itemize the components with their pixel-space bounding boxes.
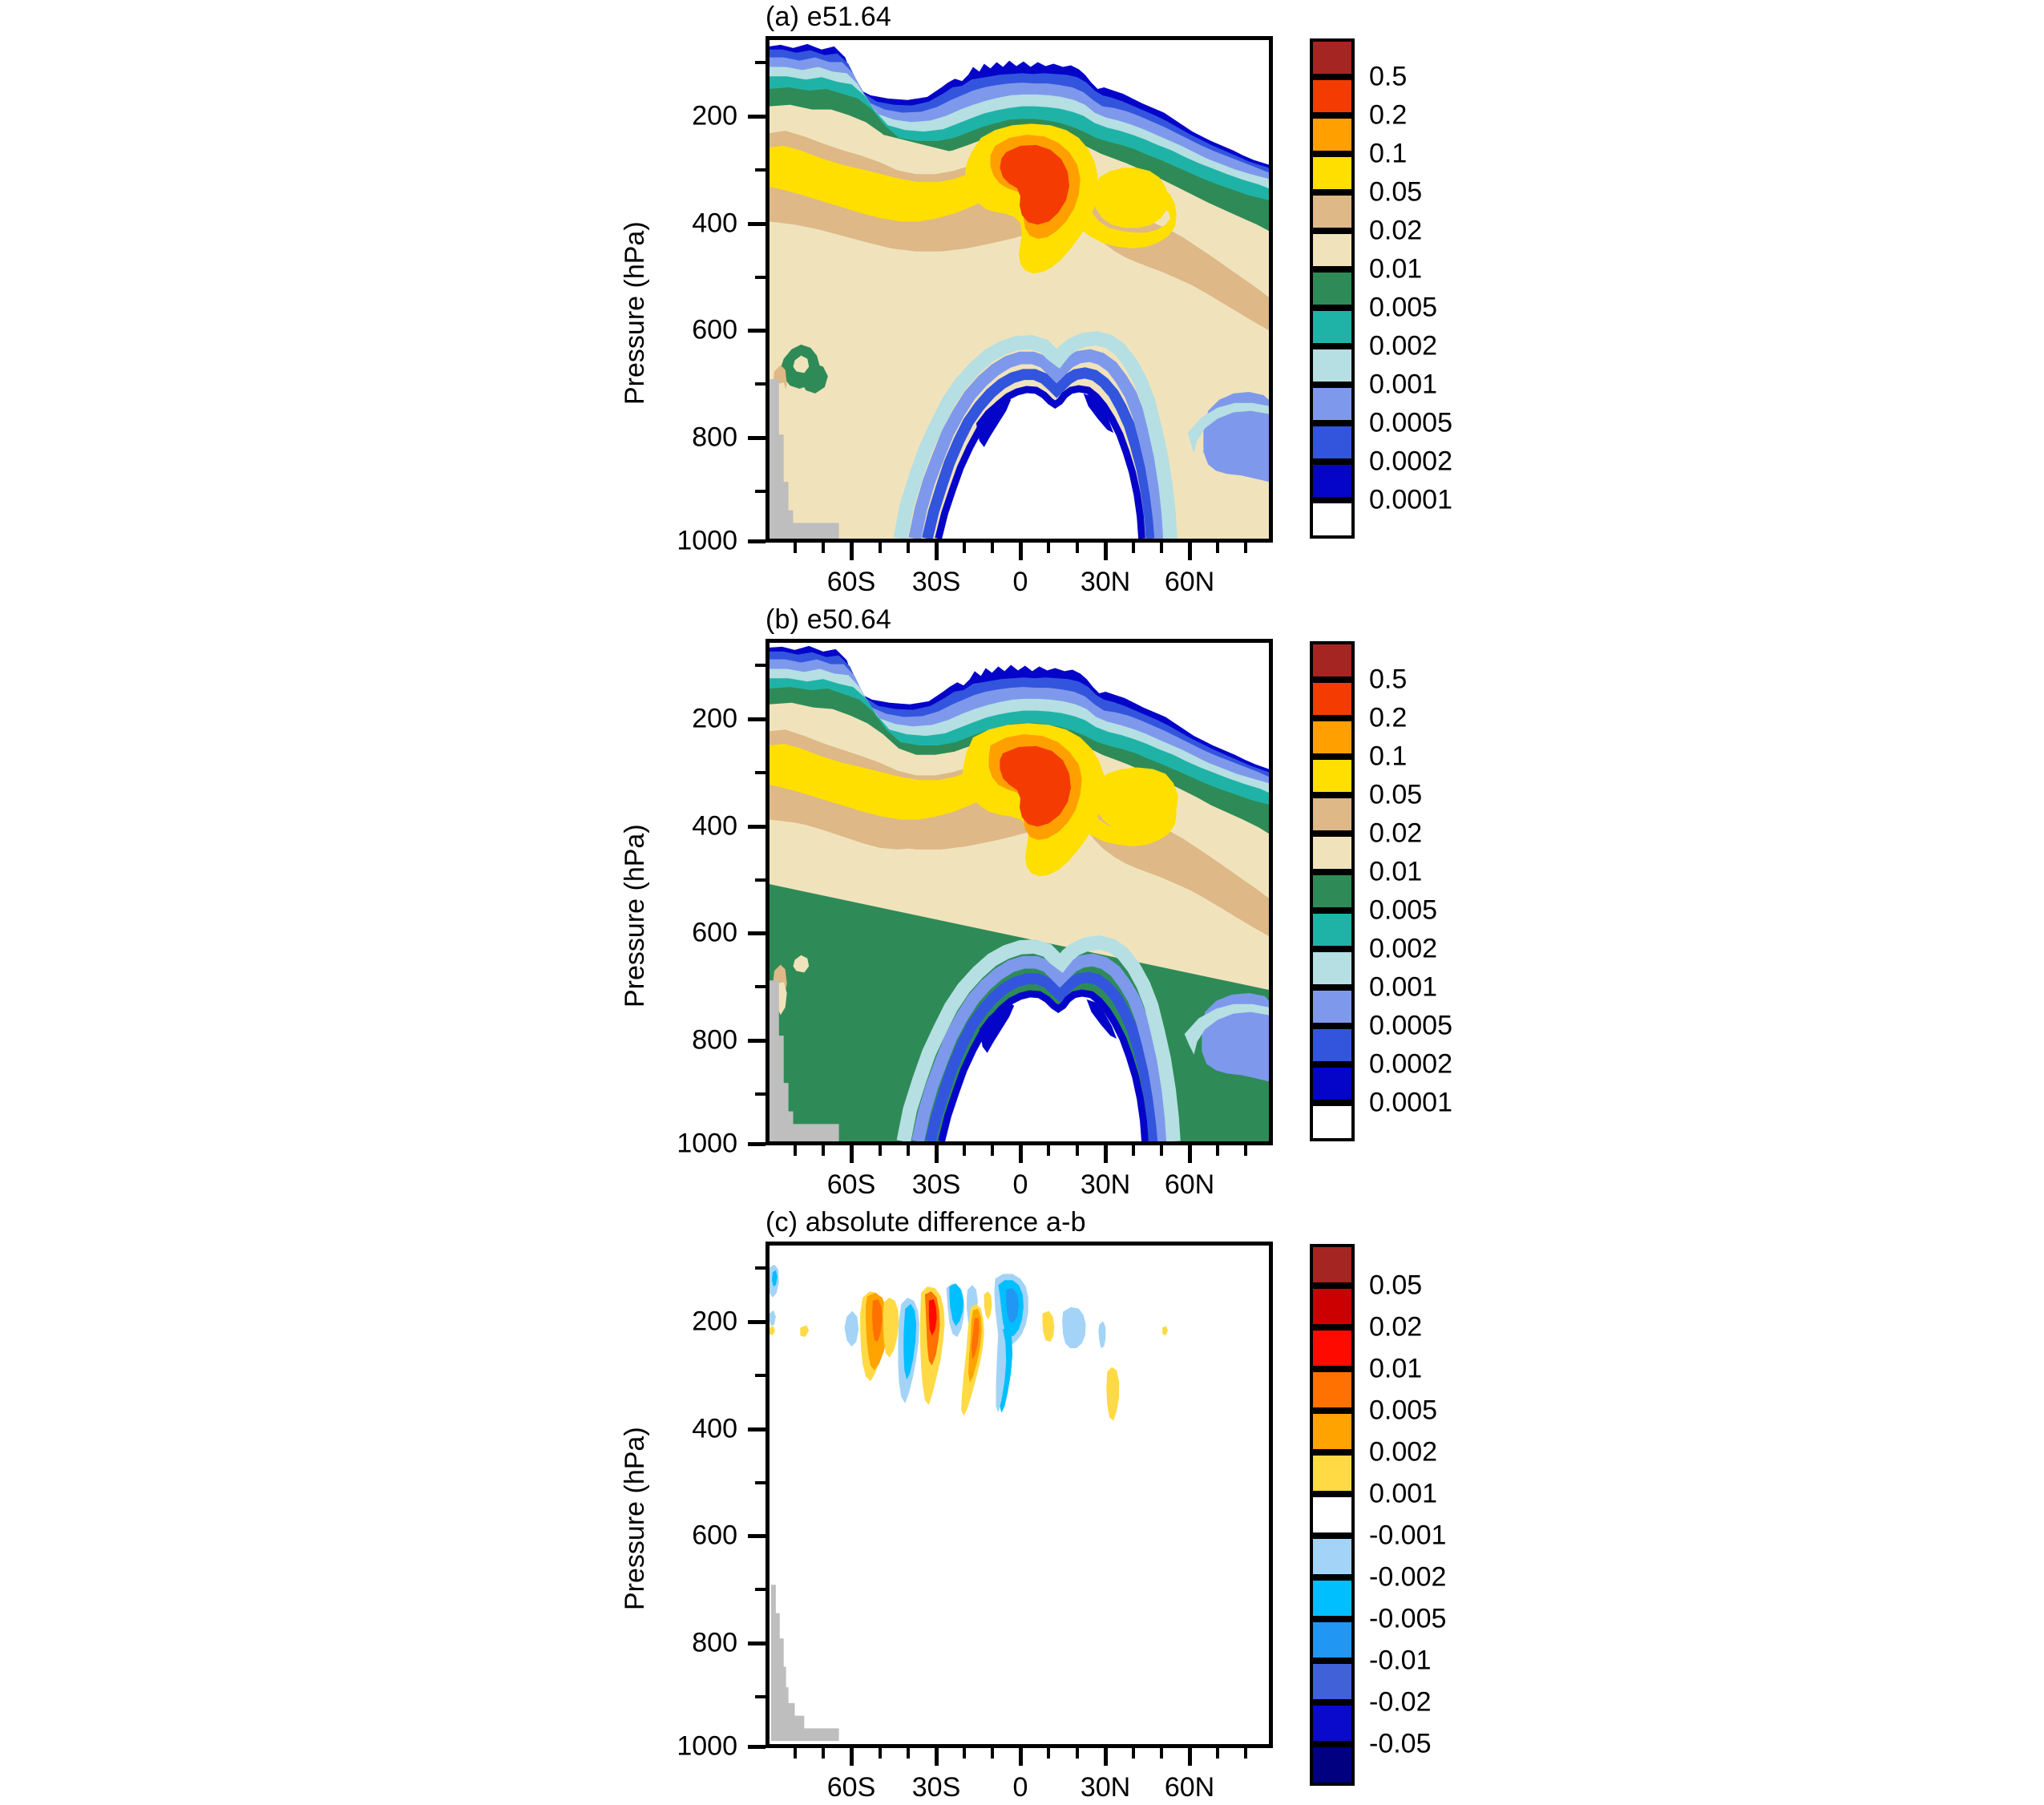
ytick-label-1000: 1000 xyxy=(637,526,737,557)
cbar-swatch-12 xyxy=(1310,1744,1355,1786)
cbar-label-9: 0.0005 xyxy=(1369,408,1452,439)
xtick-30S xyxy=(935,1748,939,1766)
xtick-label-0: 0 xyxy=(1013,1772,1028,1803)
panel-c-plot xyxy=(765,1242,1273,1748)
cbar-label-7: -0.002 xyxy=(1369,1562,1446,1593)
cbar-swatch-4 xyxy=(1310,795,1355,834)
xtick-minor xyxy=(907,1145,910,1156)
cbar-label-3: 0.05 xyxy=(1369,177,1422,208)
xtick-label-30N: 30N xyxy=(1081,1169,1130,1201)
xtick-60S xyxy=(850,1145,854,1163)
ytick-200 xyxy=(748,717,765,721)
cbar-swatch-3 xyxy=(1310,154,1355,192)
cbar-swatch-3 xyxy=(1310,1369,1355,1411)
panel-a-title: (a) e51.64 xyxy=(765,2,891,33)
xtick-minor xyxy=(1047,1145,1050,1156)
cbar-swatch-8 xyxy=(1310,1577,1355,1619)
xtick-minor xyxy=(1047,1748,1050,1759)
cbar-swatch-6 xyxy=(1310,872,1355,911)
cbar-swatch-9 xyxy=(1310,385,1355,423)
cbar-swatch-5 xyxy=(1310,231,1355,269)
xtick-minor xyxy=(963,1145,966,1156)
xtick-minor xyxy=(1216,1748,1219,1759)
ytick-minor xyxy=(755,985,765,988)
cbar-swatch-6 xyxy=(1310,269,1355,308)
xtick-minor xyxy=(822,543,825,553)
ytick-label-600: 600 xyxy=(649,1520,737,1552)
cbar-swatch-10 xyxy=(1310,1661,1355,1702)
xtick-30N xyxy=(1104,1748,1108,1766)
cbar-swatch-9 xyxy=(1310,987,1355,1026)
xtick-minor xyxy=(1160,1145,1163,1156)
y-axis-title: Pressure (hPa) xyxy=(620,824,651,1007)
ytick-minor xyxy=(755,1481,765,1484)
y-axis-title: Pressure (hPa) xyxy=(620,1427,651,1610)
cbar-swatch-6 xyxy=(1310,1494,1355,1536)
cbar-label-6: -0.001 xyxy=(1369,1520,1446,1552)
ytick-label-800: 800 xyxy=(649,422,737,454)
cbar-label-8: 0.001 xyxy=(1369,369,1437,401)
xtick-minor xyxy=(907,543,910,553)
xtick-minor xyxy=(1160,543,1163,553)
cbar-label-11: -0.05 xyxy=(1369,1729,1432,1760)
ytick-600 xyxy=(748,931,765,935)
xtick-label-30S: 30S xyxy=(912,1772,961,1803)
cbar-swatch-12 xyxy=(1310,500,1355,539)
cbar-swatch-11 xyxy=(1310,1702,1355,1744)
ytick-1000 xyxy=(748,539,765,543)
ytick-400 xyxy=(748,222,765,226)
xtick-minor xyxy=(1047,543,1050,553)
ytick-minor xyxy=(755,168,765,172)
ytick-minor xyxy=(755,1092,765,1096)
ytick-800 xyxy=(748,436,765,440)
cbar-swatch-4 xyxy=(1310,1411,1355,1452)
xtick-minor xyxy=(907,1748,910,1759)
cbar-swatch-12 xyxy=(1310,1103,1355,1141)
cbar-label-0: 0.5 xyxy=(1369,664,1407,696)
cbar-label-6: 0.005 xyxy=(1369,293,1437,324)
ytick-label-1000: 1000 xyxy=(637,1129,737,1160)
xtick-label-30S: 30S xyxy=(912,567,961,598)
xtick-minor xyxy=(1244,1145,1247,1156)
cbar-label-6: 0.005 xyxy=(1369,895,1437,927)
xtick-minor xyxy=(963,543,966,553)
xtick-minor xyxy=(879,1748,882,1759)
panel-b-title: (b) e50.64 xyxy=(765,604,891,636)
cbar-label-7: 0.002 xyxy=(1369,331,1437,362)
panel-c-contour-fill xyxy=(770,1246,1269,1744)
xtick-minor xyxy=(1132,543,1135,553)
xtick-30N xyxy=(1104,1145,1108,1163)
cbar-label-11: 0.0001 xyxy=(1369,1088,1452,1119)
ytick-800 xyxy=(748,1039,765,1043)
cbar-swatch-10 xyxy=(1310,1026,1355,1064)
xtick-label-60S: 60S xyxy=(827,1772,876,1803)
xtick-30S xyxy=(935,543,939,560)
ytick-label-800: 800 xyxy=(649,1628,737,1659)
xtick-minor xyxy=(879,1145,882,1156)
panel-a-plot xyxy=(765,36,1273,543)
xtick-minor xyxy=(1076,1145,1079,1156)
xtick-minor xyxy=(991,1748,994,1759)
panel-a-colorbar: 0.5 0.2 0.1 0.05 0.02 0.01 0.005 0.002 0… xyxy=(1310,38,1355,539)
cbar-label-1: 0.2 xyxy=(1369,100,1407,131)
cbar-swatch-9 xyxy=(1310,1619,1355,1661)
ytick-minor xyxy=(755,1266,765,1270)
ytick-label-400: 400 xyxy=(649,811,737,842)
xtick-label-60S: 60S xyxy=(827,567,876,598)
cbar-swatch-3 xyxy=(1310,757,1355,795)
xtick-label-60S: 60S xyxy=(827,1169,876,1201)
xtick-30S xyxy=(935,1145,939,1163)
ytick-label-400: 400 xyxy=(649,1414,737,1445)
ytick-label-1000: 1000 xyxy=(637,1731,737,1763)
ytick-600 xyxy=(748,1534,765,1538)
cbar-label-5: 0.01 xyxy=(1369,254,1422,285)
cbar-swatch-7 xyxy=(1310,1536,1355,1577)
ytick-minor xyxy=(755,878,765,882)
xtick-60S xyxy=(850,543,854,560)
xtick-minor xyxy=(794,1145,797,1156)
panel-a-contour-fill xyxy=(770,40,1269,539)
ytick-800 xyxy=(748,1641,765,1645)
cbar-label-2: 0.01 xyxy=(1369,1354,1422,1385)
xtick-minor xyxy=(1132,1145,1135,1156)
ytick-minor xyxy=(755,771,765,774)
ytick-minor xyxy=(755,1695,765,1698)
xtick-60N xyxy=(1188,1145,1192,1163)
xtick-minor xyxy=(822,1748,825,1759)
cbar-label-11: 0.0001 xyxy=(1369,485,1452,516)
cbar-swatch-0 xyxy=(1310,641,1355,680)
ytick-200 xyxy=(748,1320,765,1324)
xtick-label-0: 0 xyxy=(1013,567,1028,598)
cbar-label-5: 0.001 xyxy=(1369,1479,1437,1510)
panel-c: (c) absolute difference a-b xyxy=(0,1205,2044,1805)
panel-c-colorbar: 0.05 0.02 0.01 0.005 0.002 0.001 -0.001 … xyxy=(1310,1244,1355,1786)
ytick-400 xyxy=(748,825,765,829)
ytick-minor xyxy=(755,664,765,667)
cbar-swatch-7 xyxy=(1310,308,1355,346)
cbar-swatch-8 xyxy=(1310,346,1355,385)
cbar-label-9: 0.0005 xyxy=(1369,1011,1452,1042)
ytick-1000 xyxy=(748,1745,765,1749)
xtick-60N xyxy=(1188,543,1192,560)
cbar-label-2: 0.1 xyxy=(1369,741,1407,773)
xtick-label-0: 0 xyxy=(1013,1169,1028,1201)
xtick-minor xyxy=(1076,543,1079,553)
panel-b: (b) e50.64 xyxy=(0,603,2044,1205)
xtick-label-60N: 60N xyxy=(1165,1772,1214,1803)
ytick-label-600: 600 xyxy=(649,315,737,346)
xtick-60S xyxy=(850,1748,854,1766)
ytick-label-600: 600 xyxy=(649,918,737,949)
cbar-label-1: 0.02 xyxy=(1369,1312,1422,1343)
xtick-minor xyxy=(1216,543,1219,553)
cbar-swatch-5 xyxy=(1310,1452,1355,1494)
ytick-1000 xyxy=(748,1142,765,1146)
cbar-swatch-2 xyxy=(1310,115,1355,154)
xtick-minor xyxy=(879,543,882,553)
xtick-minor xyxy=(1244,543,1247,553)
cbar-swatch-2 xyxy=(1310,718,1355,757)
cbar-swatch-8 xyxy=(1310,949,1355,987)
cbar-label-9: -0.01 xyxy=(1369,1645,1432,1677)
xtick-0 xyxy=(1019,1145,1023,1163)
cbar-label-10: -0.02 xyxy=(1369,1687,1432,1718)
xtick-minor xyxy=(1160,1748,1163,1759)
xtick-minor xyxy=(822,1145,825,1156)
cbar-swatch-0 xyxy=(1310,1244,1355,1286)
ytick-minor xyxy=(755,61,765,64)
ytick-label-800: 800 xyxy=(649,1025,737,1056)
xtick-minor xyxy=(1076,1748,1079,1759)
cbar-label-8: 0.001 xyxy=(1369,972,1437,1003)
ytick-label-200: 200 xyxy=(649,1306,737,1338)
ytick-minor xyxy=(755,1374,765,1377)
cbar-swatch-5 xyxy=(1310,834,1355,872)
ytick-minor xyxy=(755,276,765,279)
cbar-label-10: 0.0002 xyxy=(1369,446,1452,478)
xtick-60N xyxy=(1188,1748,1192,1766)
panel-a: (a) e51.64 xyxy=(0,0,2044,603)
cbar-label-7: 0.002 xyxy=(1369,934,1437,965)
xtick-minor xyxy=(794,1748,797,1759)
ytick-400 xyxy=(748,1427,765,1431)
cbar-swatch-4 xyxy=(1310,192,1355,231)
cbar-swatch-2 xyxy=(1310,1327,1355,1369)
y-axis-title: Pressure (hPa) xyxy=(620,221,651,405)
cbar-swatch-1 xyxy=(1310,1286,1355,1327)
panel-b-contour-fill xyxy=(770,643,1269,1141)
cbar-swatch-10 xyxy=(1310,423,1355,462)
panel-b-plot xyxy=(765,639,1273,1145)
xtick-minor xyxy=(991,543,994,553)
cbar-label-4: 0.02 xyxy=(1369,216,1422,247)
xtick-minor xyxy=(1216,1145,1219,1156)
cbar-label-4: 0.002 xyxy=(1369,1437,1437,1468)
ytick-200 xyxy=(748,115,765,119)
cbar-label-3: 0.005 xyxy=(1369,1395,1437,1427)
ytick-minor xyxy=(755,382,765,386)
panel-c-title: (c) absolute difference a-b xyxy=(765,1207,1086,1238)
cbar-label-10: 0.0002 xyxy=(1369,1049,1452,1080)
xtick-label-30N: 30N xyxy=(1081,567,1130,598)
ytick-label-200: 200 xyxy=(649,101,737,132)
cbar-label-0: 0.5 xyxy=(1369,62,1407,93)
xtick-label-60N: 60N xyxy=(1165,567,1214,598)
ytick-minor xyxy=(755,490,765,493)
xtick-label-60N: 60N xyxy=(1165,1169,1214,1201)
panel-b-colorbar: 0.5 0.2 0.1 0.05 0.02 0.01 0.005 0.002 0… xyxy=(1310,641,1355,1141)
xtick-label-30S: 30S xyxy=(912,1169,961,1201)
cbar-label-8: -0.005 xyxy=(1369,1604,1446,1635)
cbar-swatch-1 xyxy=(1310,680,1355,718)
cbar-swatch-11 xyxy=(1310,1064,1355,1103)
ytick-label-400: 400 xyxy=(649,208,737,240)
cbar-swatch-0 xyxy=(1310,38,1355,77)
cbar-swatch-1 xyxy=(1310,77,1355,115)
cbar-label-1: 0.2 xyxy=(1369,703,1407,734)
xtick-minor xyxy=(794,543,797,553)
xtick-minor xyxy=(991,1145,994,1156)
cbar-label-5: 0.01 xyxy=(1369,857,1422,888)
cbar-label-0: 0.05 xyxy=(1369,1270,1422,1302)
ytick-minor xyxy=(755,1588,765,1591)
xtick-30N xyxy=(1104,543,1108,560)
xtick-0 xyxy=(1019,1748,1023,1766)
cbar-label-4: 0.02 xyxy=(1369,818,1422,850)
ytick-600 xyxy=(748,329,765,333)
cbar-label-3: 0.05 xyxy=(1369,780,1422,811)
xtick-label-30N: 30N xyxy=(1081,1772,1130,1803)
xtick-0 xyxy=(1019,543,1023,560)
xtick-minor xyxy=(1244,1748,1247,1759)
ytick-label-200: 200 xyxy=(649,704,737,735)
xtick-minor xyxy=(963,1748,966,1759)
cbar-swatch-11 xyxy=(1310,462,1355,500)
cbar-swatch-7 xyxy=(1310,911,1355,949)
cbar-label-2: 0.1 xyxy=(1369,139,1407,170)
xtick-minor xyxy=(1132,1748,1135,1759)
